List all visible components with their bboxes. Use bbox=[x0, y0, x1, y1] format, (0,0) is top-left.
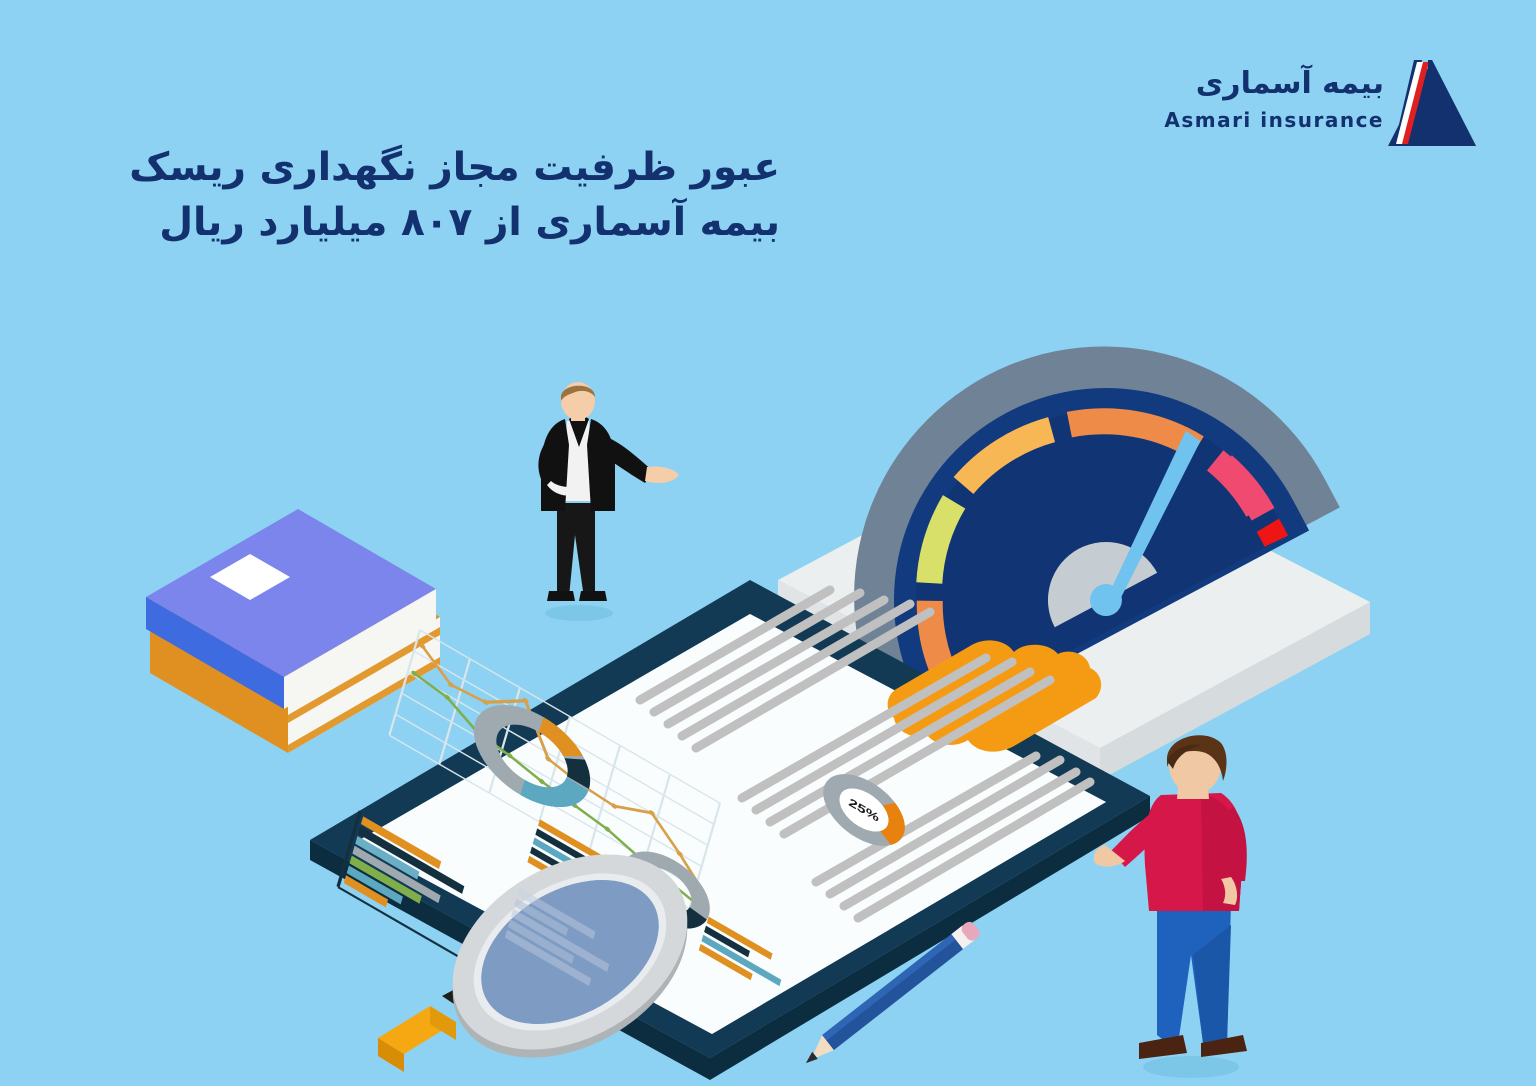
brand-name-en: Asmari insurance bbox=[1164, 108, 1384, 132]
clipboard-with-report: 25% bbox=[270, 560, 1170, 1080]
headline-line-2: بیمه آسماری از ۸۰۷ میلیارد ریال bbox=[60, 195, 780, 250]
brand-name-fa: بیمه آسماری bbox=[1196, 66, 1384, 101]
triangle-logo-icon bbox=[1388, 60, 1476, 146]
brand-logo: بیمه آسماری Asmari insurance bbox=[1186, 52, 1476, 157]
man-in-red-sweater bbox=[1095, 735, 1325, 1080]
headline-line-1: عبور ظرفیت مجاز نگهداری ریسک bbox=[129, 145, 780, 190]
poster-canvas: بیمه آسماری Asmari insurance عبور ظرفیت … bbox=[0, 0, 1536, 1086]
pencil bbox=[775, 905, 1025, 1070]
page-title: عبور ظرفیت مجاز نگهداری ریسک بیمه آسماری… bbox=[60, 140, 780, 251]
